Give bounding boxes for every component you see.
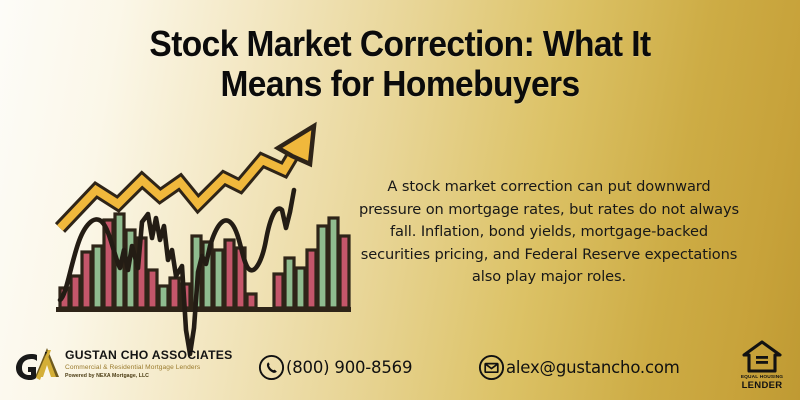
logo-company-name: GUSTAN CHO ASSOCIATES bbox=[65, 348, 233, 362]
gca-monogram-icon bbox=[14, 344, 60, 384]
title-line-1: Stock Market Correction: What It bbox=[149, 23, 650, 64]
phone-icon bbox=[258, 354, 285, 381]
envelope-icon bbox=[478, 354, 505, 381]
logo-tagline: Commercial & Residential Mortgage Lender… bbox=[65, 363, 233, 373]
logo-powered-by: Powered by NEXA Mortgage, LLC bbox=[65, 373, 233, 380]
chart-svg bbox=[52, 118, 352, 338]
phone-number: (800) 900-8569 bbox=[286, 358, 412, 377]
logo-text-block: GUSTAN CHO ASSOCIATES Commercial & Resid… bbox=[65, 348, 233, 381]
phone-contact[interactable]: (800) 900-8569 bbox=[258, 354, 412, 381]
body-text: A stock market correction can put downwa… bbox=[358, 176, 740, 289]
email-address: alex@gustancho.com bbox=[506, 358, 680, 377]
equal-housing-house-icon bbox=[742, 340, 782, 374]
stock-chart-illustration bbox=[52, 118, 352, 338]
email-contact[interactable]: alex@gustancho.com bbox=[478, 354, 680, 381]
equal-housing-lender-badge: EQUAL HOUSING LENDER bbox=[738, 340, 786, 394]
page-title: Stock Market Correction: What It Means f… bbox=[84, 24, 716, 105]
marketing-banner: Stock Market Correction: What It Means f… bbox=[0, 0, 800, 400]
title-line-2: Means for Homebuyers bbox=[84, 64, 716, 104]
footer-bar: GUSTAN CHO ASSOCIATES Commercial & Resid… bbox=[0, 336, 800, 400]
company-logo[interactable]: GUSTAN CHO ASSOCIATES Commercial & Resid… bbox=[14, 344, 233, 384]
equal-housing-line-2: LENDER bbox=[742, 381, 783, 391]
